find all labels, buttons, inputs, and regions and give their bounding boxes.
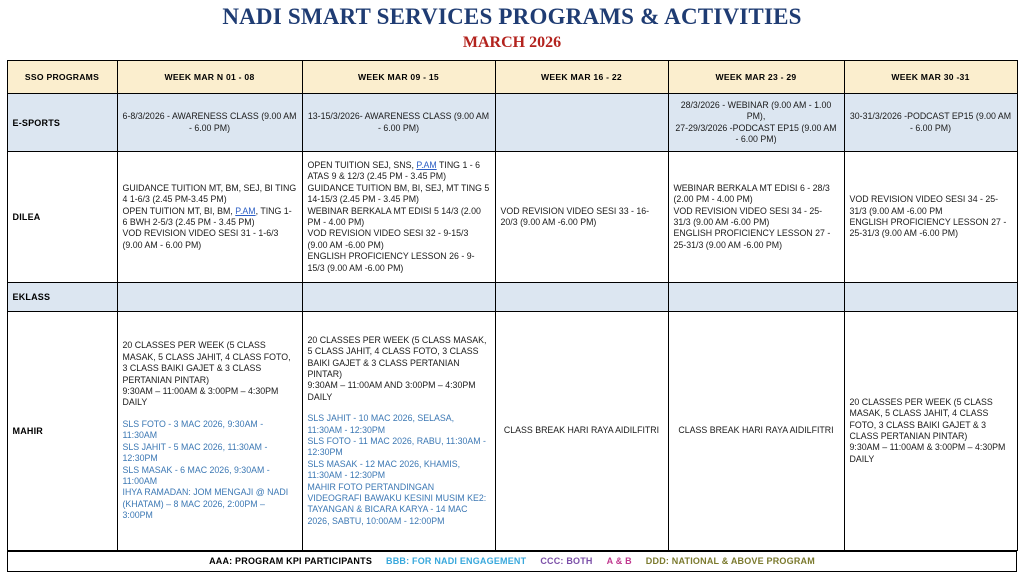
cell-eklass-week2 bbox=[302, 283, 495, 312]
header-row: SSO PROGRAMS WEEK MAR N 01 - 08 WEEK MAR… bbox=[7, 61, 1017, 94]
cell-spacer bbox=[123, 409, 297, 419]
page-subtitle: MARCH 2026 bbox=[0, 33, 1024, 53]
cell-dilea-week1: GUIDANCE TUITION MT, BM, SEJ, BI TING 4 … bbox=[117, 152, 302, 283]
table-row: E-SPORTS 6-8/3/2026 - AWARENESS CLASS (9… bbox=[7, 94, 1017, 152]
column-header-week-4: WEEK MAR 23 - 29 bbox=[668, 61, 844, 94]
p-am-link[interactable]: P.AM bbox=[235, 206, 255, 216]
table-row: MAHIR 20 CLASSES PER WEEK (5 CLASS MASAK… bbox=[7, 312, 1017, 551]
cell-mahir-week3: CLASS BREAK HARI RAYA AIDILFITRI bbox=[495, 312, 668, 551]
cell-mahir-week2: 20 CLASSES PER WEEK (5 CLASS MASAK, 5 CL… bbox=[302, 312, 495, 551]
column-header-week-3: WEEK MAR 16 - 22 bbox=[495, 61, 668, 94]
legend-a-and-b: A & B bbox=[607, 556, 632, 566]
table-row: EKLASS bbox=[7, 283, 1017, 312]
table-header: SSO PROGRAMS WEEK MAR N 01 - 08 WEEK MAR… bbox=[7, 61, 1017, 94]
title-block: NADI SMART SERVICES PROGRAMS & ACTIVITIE… bbox=[0, 0, 1024, 53]
legend-bbb: BBB: FOR NADI ENGAGEMENT bbox=[386, 556, 526, 566]
cell-highlight-text: SLS JAHIT - 10 MAC 2026, SELASA, 11:30AM… bbox=[308, 413, 490, 527]
table-body: E-SPORTS 6-8/3/2026 - AWARENESS CLASS (9… bbox=[7, 94, 1017, 551]
cell-eklass-week4 bbox=[668, 283, 844, 312]
schedule-table: SSO PROGRAMS WEEK MAR N 01 - 08 WEEK MAR… bbox=[7, 60, 1018, 551]
p-am-link[interactable]: P.AM bbox=[416, 160, 436, 170]
column-header-week-1: WEEK MAR N 01 - 08 bbox=[117, 61, 302, 94]
cell-esports-week2: 13-15/3/2026- AWARENESS CLASS (9.00 AM -… bbox=[302, 94, 495, 152]
cell-dilea-week2: OPEN TUITION SEJ, SNS, P.AM TING 1 - 6 A… bbox=[302, 152, 495, 283]
column-header-sso-programs: SSO PROGRAMS bbox=[7, 61, 117, 94]
cell-esports-week5: 30-31/3/2026 -PODCAST EP15 (9.00 AM - 6.… bbox=[844, 94, 1017, 152]
cell-esports-week1: 6-8/3/2026 - AWARENESS CLASS (9.00 AM - … bbox=[117, 94, 302, 152]
cell-dilea-week5: VOD REVISION VIDEO SESI 34 - 25-31/3 (9.… bbox=[844, 152, 1017, 283]
legend-ccc: CCC: BOTH bbox=[540, 556, 592, 566]
cell-eklass-week1 bbox=[117, 283, 302, 312]
cell-esports-week4: 28/3/2026 - WEBINAR (9.00 AM - 1.00 PM),… bbox=[668, 94, 844, 152]
cell-mahir-week5: 20 CLASSES PER WEEK (5 CLASS MASAK, 5 CL… bbox=[844, 312, 1017, 551]
program-label-esports: E-SPORTS bbox=[7, 94, 117, 152]
cell-mahir-week4: CLASS BREAK HARI RAYA AIDILFITRI bbox=[668, 312, 844, 551]
legend-footer: AAA: PROGRAM KPI PARTICIPANTSBBB: FOR NA… bbox=[7, 551, 1017, 572]
schedule-page: NADI SMART SERVICES PROGRAMS & ACTIVITIE… bbox=[0, 0, 1024, 576]
cell-mahir-week1: 20 CLASSES PER WEEK (5 CLASS MASAK, 5 CL… bbox=[117, 312, 302, 551]
cell-eklass-week5 bbox=[844, 283, 1017, 312]
table-row: DILEA GUIDANCE TUITION MT, BM, SEJ, BI T… bbox=[7, 152, 1017, 283]
cell-spacer bbox=[308, 403, 490, 413]
cell-dilea-week4: WEBINAR BERKALA MT EDISI 6 - 28/3 (2.00 … bbox=[668, 152, 844, 283]
program-label-eklass: EKLASS bbox=[7, 283, 117, 312]
program-label-dilea: DILEA bbox=[7, 152, 117, 283]
column-header-week-5: WEEK MAR 30 -31 bbox=[844, 61, 1017, 94]
legend-aaa: AAA: PROGRAM KPI PARTICIPANTS bbox=[209, 556, 372, 566]
program-label-mahir: MAHIR bbox=[7, 312, 117, 551]
cell-eklass-week3 bbox=[495, 283, 668, 312]
legend-ddd: DDD: NATIONAL & ABOVE PROGRAM bbox=[646, 556, 815, 566]
column-header-week-2: WEEK MAR 09 - 15 bbox=[302, 61, 495, 94]
cell-highlight-text: SLS FOTO - 3 MAC 2026, 9:30AM - 11:30AMS… bbox=[123, 419, 297, 522]
cell-dilea-week3: VOD REVISION VIDEO SESI 33 - 16-20/3 (9.… bbox=[495, 152, 668, 283]
page-title: NADI SMART SERVICES PROGRAMS & ACTIVITIE… bbox=[0, 4, 1024, 30]
cell-esports-week3 bbox=[495, 94, 668, 152]
